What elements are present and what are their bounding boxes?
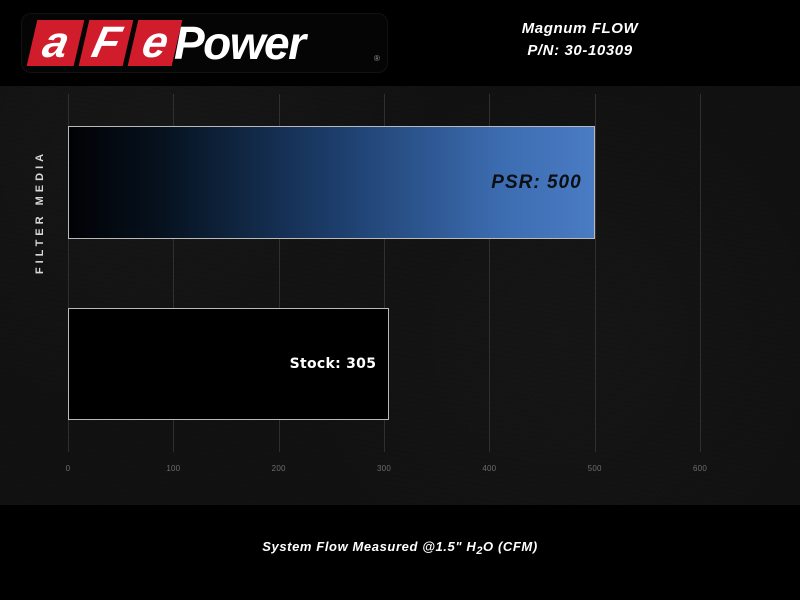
bar-stock: Stock: 305 — [68, 308, 389, 420]
y-axis-label: FILTER MEDIA — [34, 117, 46, 307]
chart-plot-background: FILTER MEDIA PSR: 500 Stock: 305 0100200… — [0, 86, 800, 505]
afe-power-flow-chart-graphic: a F e Power ® Magnum FLOW P/N: 30-10309 … — [0, 0, 800, 600]
x-tick-label-600: 600 — [693, 464, 707, 473]
product-title: Magnum FLOW — [400, 18, 760, 40]
footer-band: System Flow Measured @1.5" H2O (CFM) — [0, 505, 800, 600]
afe-power-logo: a F e Power ® — [22, 14, 387, 72]
bar-label-stock: Stock: 305 — [290, 356, 377, 372]
registered-trademark-icon: ® — [374, 54, 380, 63]
bar-label-psr: PSR: 500 — [491, 172, 581, 194]
x-tick-label-500: 500 — [588, 464, 602, 473]
x-tick-label-200: 200 — [272, 464, 286, 473]
caption-pre: System Flow Measured @1.5" H — [262, 539, 476, 554]
x-axis-tick-labels: 0100200300400500600 — [68, 464, 700, 482]
x-tick-label-300: 300 — [377, 464, 391, 473]
x-tick-label-400: 400 — [482, 464, 496, 473]
header-band: a F e Power ® Magnum FLOW P/N: 30-10309 — [0, 0, 800, 86]
caption-post: O (CFM) — [483, 539, 538, 554]
x-tick-label-0: 0 — [66, 464, 71, 473]
x-tick-label-100: 100 — [166, 464, 180, 473]
plot-area: PSR: 500 Stock: 305 0100200300400500600 — [68, 94, 700, 452]
header-text-block: Magnum FLOW P/N: 30-10309 — [400, 18, 760, 62]
gridline-500 — [595, 94, 596, 452]
chart-caption: System Flow Measured @1.5" H2O (CFM) — [0, 538, 800, 557]
logo-wordmark-power: Power — [174, 19, 305, 67]
bar-psr: PSR: 500 — [68, 126, 595, 239]
part-number: P/N: 30-10309 — [400, 40, 760, 62]
gridline-600 — [700, 94, 701, 452]
